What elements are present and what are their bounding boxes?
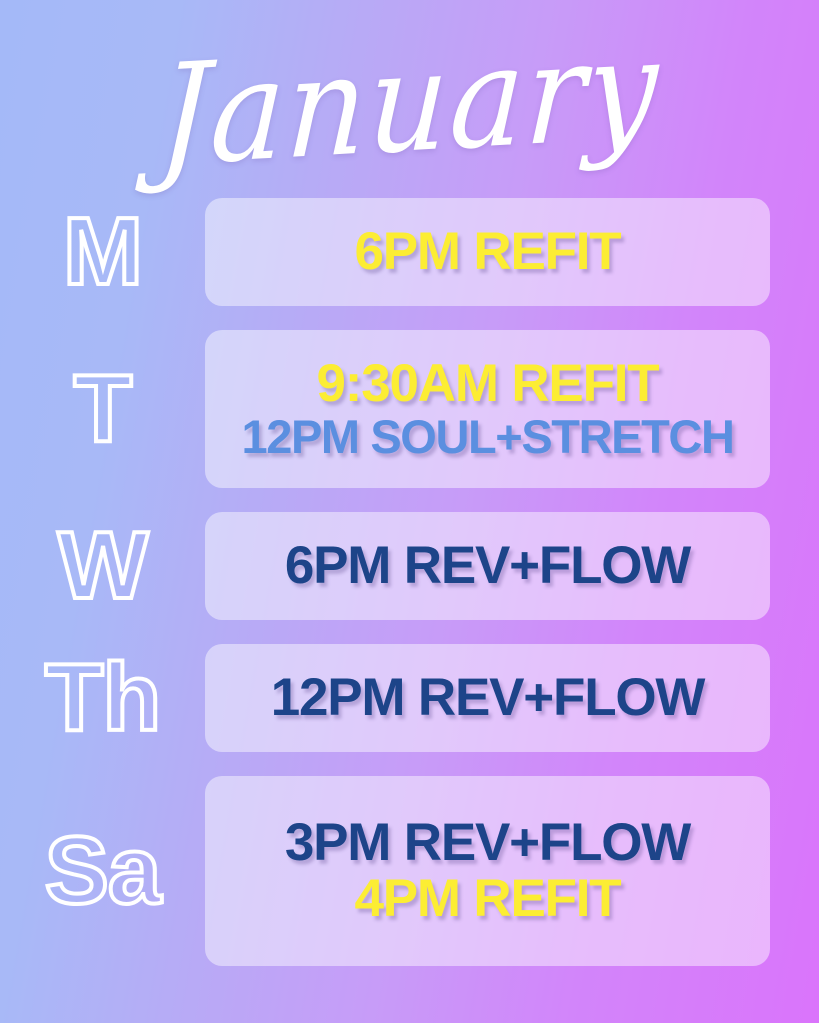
day-label-tuesday: T [0,363,205,454]
class-entry: 4PM REFIT [354,872,620,926]
day-label-monday: M [0,206,205,297]
poster-title-container: January [0,18,819,188]
page-title: January [156,19,663,186]
class-entry: 12PM REV+FLOW [271,671,705,725]
class-card-saturday[interactable]: 3PM REV+FLOW 4PM REFIT [205,776,770,966]
class-entry: 6PM REFIT [354,225,620,279]
day-label-wednesday: W [0,520,205,611]
schedule-row-thursday: Th 12PM REV+FLOW [0,644,819,752]
schedule-row-wednesday: W 6PM REV+FLOW [0,512,819,620]
schedule-row-monday: M 6PM REFIT [0,198,819,306]
class-entry: 3PM REV+FLOW [285,816,690,870]
class-card-tuesday[interactable]: 9:30AM REFIT 12PM SOUL+STRETCH [205,330,770,488]
class-card-wednesday[interactable]: 6PM REV+FLOW [205,512,770,620]
class-entry: 9:30AM REFIT [317,357,659,411]
day-label-thursday: Th [0,652,205,743]
schedule-poster: January M 6PM REFIT T 9:30AM REFIT 12PM … [0,0,819,1023]
class-entry: 12PM SOUL+STRETCH [242,413,734,461]
class-card-thursday[interactable]: 12PM REV+FLOW [205,644,770,752]
schedule-list: M 6PM REFIT T 9:30AM REFIT 12PM SOUL+STR… [0,198,819,966]
class-entry: 6PM REV+FLOW [285,539,690,593]
day-label-saturday: Sa [0,825,205,916]
schedule-row-saturday: Sa 3PM REV+FLOW 4PM REFIT [0,776,819,966]
class-card-monday[interactable]: 6PM REFIT [205,198,770,306]
schedule-row-tuesday: T 9:30AM REFIT 12PM SOUL+STRETCH [0,330,819,488]
